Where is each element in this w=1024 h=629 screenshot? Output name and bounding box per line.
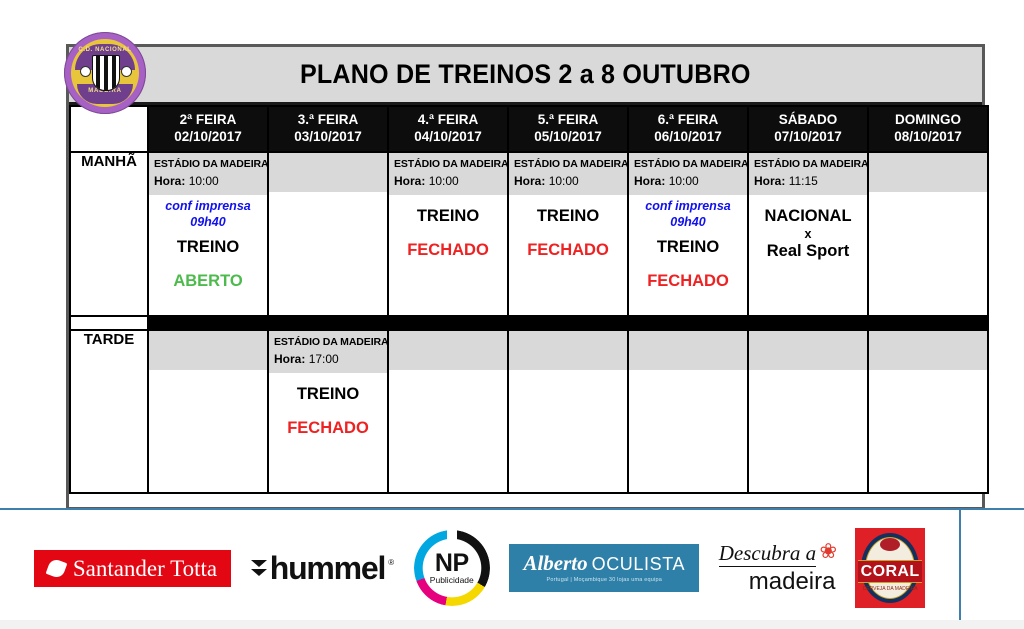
column-header-6: SÁBADO07/10/2017 [748,106,868,152]
schedule-cell[interactable] [388,330,508,493]
cell-body: conf imprensa09h40TREINOABERTO [149,195,267,292]
column-day-date: 04/10/2017 [389,129,507,146]
activity-label: TREINO [513,207,623,227]
schedule-cell[interactable] [268,152,388,316]
venue-band [869,331,987,370]
press-conference-label: conf imprensa [633,199,743,215]
sponsor-bar: Santander Totta hummel ® NP Publicidade [0,516,959,620]
column-header-7: DOMINGO08/10/2017 [868,106,988,152]
title-band: PLANO DE TREINOS 2 a 8 OUTUBRO [69,47,982,105]
row-separator [70,316,988,330]
venue-band: ESTÁDIO DA MADEIRAHora: 10:00 [149,153,267,195]
time-value: 10:00 [189,174,219,188]
cell-body [869,370,987,374]
time-row: Hora: 10:00 [154,173,262,190]
period-label: MANHÃ [70,152,148,316]
column-header-4: 5.ª FEIRA05/10/2017 [508,106,628,152]
training-plan-page: PLANO DE TREINOS 2 a 8 OUTUBRO 2ª FEIRA0… [0,0,1024,629]
schedule-cell[interactable]: ESTÁDIO DA MADEIRAHora: 17:00TREINOFECHA… [268,330,388,493]
time-value: 10:00 [549,174,579,188]
venue-band [389,331,507,370]
schedule-cell[interactable] [628,330,748,493]
time-label: Hora: [634,174,665,188]
separator-cell [868,316,988,330]
column-day-date: 03/10/2017 [269,129,387,146]
cell-body [269,192,387,196]
column-header-2: 3.ª FEIRA03/10/2017 [268,106,388,152]
match-home-team: NACIONAL [753,207,863,226]
time-row: Hora: 10:00 [394,173,502,190]
activity-label: TREINO [153,238,263,258]
cell-body [629,370,747,374]
status-badge: ABERTO [153,272,263,292]
coral-sublabel: CERVEJA DA MADEIRA [855,586,925,592]
press-conference-time: 09h40 [153,215,263,231]
column-day-date: 02/10/2017 [149,129,267,146]
activity-label: TREINO [633,238,743,258]
crest-ball-right-icon [121,66,132,77]
schedule-cell[interactable]: ESTÁDIO DA MADEIRAHora: 10:00conf impren… [628,152,748,316]
time-row: Hora: 17:00 [274,351,382,368]
schedule-sheet: PLANO DE TREINOS 2 a 8 OUTUBRO 2ª FEIRA0… [66,44,985,510]
venue-name: ESTÁDIO DA MADEIRA [394,157,502,171]
coral-band: CORAL [858,560,922,583]
schedule-row-tarde: TARDEESTÁDIO DA MADEIRAHora: 17:00TREINO… [70,330,988,493]
column-day-name: 6.ª FEIRA [629,112,747,129]
match-versus: x [753,226,863,242]
time-label: Hora: [394,174,425,188]
venue-name: ESTÁDIO DA MADEIRA [514,157,622,171]
schedule-cell[interactable]: ESTÁDIO DA MADEIRAHora: 10:00conf impren… [148,152,268,316]
column-day-date: 05/10/2017 [509,129,627,146]
cell-body: conf imprensa09h40TREINOFECHADO [629,195,747,292]
sponsor-coral: CORAL CERVEJA DA MADEIRA [855,528,925,608]
column-day-date: 08/10/2017 [869,129,987,146]
descubra-label: Descubra a [719,543,816,567]
cell-body [389,370,507,374]
activity-label: TREINO [273,385,383,405]
page-title: PLANO DE TREINOS 2 a 8 OUTUBRO [300,59,751,90]
coral-label: CORAL [861,563,920,581]
separator-cell [148,316,268,330]
time-label: Hora: [274,352,305,366]
activity-label: TREINO [393,207,503,227]
separator-cell [628,316,748,330]
cell-body: TREINOFECHADO [389,195,507,261]
status-badge: FECHADO [513,241,623,261]
flower-icon: ❀ [819,541,841,561]
schedule-table: 2ª FEIRA02/10/20173.ª FEIRA03/10/20174.ª… [69,105,989,494]
column-header-3: 4.ª FEIRA04/10/2017 [388,106,508,152]
schedule-row-manhã: MANHÃESTÁDIO DA MADEIRAHora: 10:00conf i… [70,152,988,316]
press-conference-label: conf imprensa [153,199,263,215]
time-row: Hora: 10:00 [634,173,742,190]
alberto-label: Alberto [523,551,587,575]
column-header-5: 6.ª FEIRA06/10/2017 [628,106,748,152]
separator-corner [70,316,148,330]
venue-band: ESTÁDIO DA MADEIRAHora: 10:00 [389,153,507,195]
time-row: Hora: 10:00 [514,173,622,190]
column-day-name: DOMINGO [869,112,987,129]
venue-band: ESTÁDIO DA MADEIRAHora: 10:00 [509,153,627,195]
crest-ball-left-icon [80,66,91,77]
venue-band: ESTÁDIO DA MADEIRAHora: 11:15 [749,153,867,195]
separator-cell [268,316,388,330]
venue-band: ESTÁDIO DA MADEIRAHora: 10:00 [629,153,747,195]
cell-body: TREINOFECHADO [509,195,627,261]
alberto-sublabel: Portugal | Moçambique 30 lojas uma equip… [523,577,685,583]
column-day-name: 2ª FEIRA [149,112,267,129]
schedule-cell[interactable] [748,330,868,493]
crest-shield-icon [92,55,120,91]
schedule-cell[interactable] [148,330,268,493]
match-away-team: Real Sport [753,242,863,262]
column-day-date: 06/10/2017 [629,129,747,146]
np-label: NP [435,552,469,575]
press-conference-time: 09h40 [633,215,743,231]
table-header-row: 2ª FEIRA02/10/20173.ª FEIRA03/10/20174.ª… [70,106,988,152]
period-label-text: TARDE [84,331,135,348]
sponsor-santander-totta: Santander Totta [34,550,231,587]
schedule-cell[interactable]: ESTÁDIO DA MADEIRAHora: 11:15NACIONALxRe… [748,152,868,316]
cell-body [749,370,867,374]
sponsor-descubra-a-madeira: Descubra a ❀ madeira [719,543,836,594]
time-value: 17:00 [309,352,339,366]
sponsor-hummel: hummel ® [251,554,394,583]
status-badge: FECHADO [273,419,383,439]
cell-body [869,192,987,196]
venue-band [749,331,867,370]
venue-band [629,331,747,370]
venue-band: ESTÁDIO DA MADEIRAHora: 17:00 [269,331,387,373]
separator-cell [748,316,868,330]
column-day-name: SÁBADO [749,112,867,129]
club-crest: C.D. NACIONAL MADEIRA [64,32,146,114]
time-value: 10:00 [669,174,699,188]
np-sublabel: Publicidade [430,576,474,585]
schedule-cell[interactable] [868,152,988,316]
venue-band [509,331,627,370]
time-label: Hora: [754,174,785,188]
footer-right-line [959,508,961,629]
separator-cell [508,316,628,330]
schedule-cell[interactable] [508,330,628,493]
period-label: TARDE [70,330,148,493]
status-badge: FECHADO [633,272,743,292]
hummel-label: hummel [270,554,386,583]
bottom-strip [0,620,1024,629]
sponsor-np-publicidade: NP Publicidade [414,530,490,606]
venue-name: ESTÁDIO DA MADEIRA [154,157,262,171]
venue-name: ESTÁDIO DA MADEIRA [634,157,742,171]
separator-cell [388,316,508,330]
footer-divider-line [0,508,1024,510]
santander-label: Santander Totta [73,557,217,580]
venue-band [269,153,387,192]
schedule-cell[interactable]: ESTÁDIO DA MADEIRAHora: 10:00TREINOFECHA… [508,152,628,316]
cell-body [509,370,627,374]
hummel-registered-icon: ® [388,558,394,567]
time-value: 10:00 [429,174,459,188]
venue-name: ESTÁDIO DA MADEIRA [754,157,862,171]
venue-name: ESTÁDIO DA MADEIRA [274,335,382,349]
column-header-1: 2ª FEIRA02/10/2017 [148,106,268,152]
sponsor-alberto-oculista: AlbertoOCULISTA Portugal | Moçambique 30… [509,544,699,592]
venue-band [149,331,267,370]
coral-crest-icon [880,538,900,551]
time-label: Hora: [514,174,545,188]
column-day-name: 5.ª FEIRA [509,112,627,129]
venue-band [869,153,987,192]
santander-flame-icon [45,557,67,579]
column-day-name: 4.ª FEIRA [389,112,507,129]
status-badge: FECHADO [393,241,503,261]
column-day-date: 07/10/2017 [749,129,867,146]
schedule-cell[interactable] [868,330,988,493]
madeira-label: madeira [749,570,836,594]
time-label: Hora: [154,174,185,188]
cell-body [149,370,267,374]
time-value: 11:15 [789,174,818,188]
period-label-text: MANHÃ [81,153,137,170]
cell-body: TREINOFECHADO [269,373,387,439]
schedule-cell[interactable]: ESTÁDIO DA MADEIRAHora: 10:00TREINOFECHA… [388,152,508,316]
cell-body: NACIONALxReal Sport [749,195,867,262]
time-row: Hora: 11:15 [754,173,862,190]
hummel-chevron-icon [251,560,267,576]
oculista-label: OCULISTA [592,554,685,574]
crest-top-text: C.D. NACIONAL [64,47,146,53]
column-day-name: 3.ª FEIRA [269,112,387,129]
